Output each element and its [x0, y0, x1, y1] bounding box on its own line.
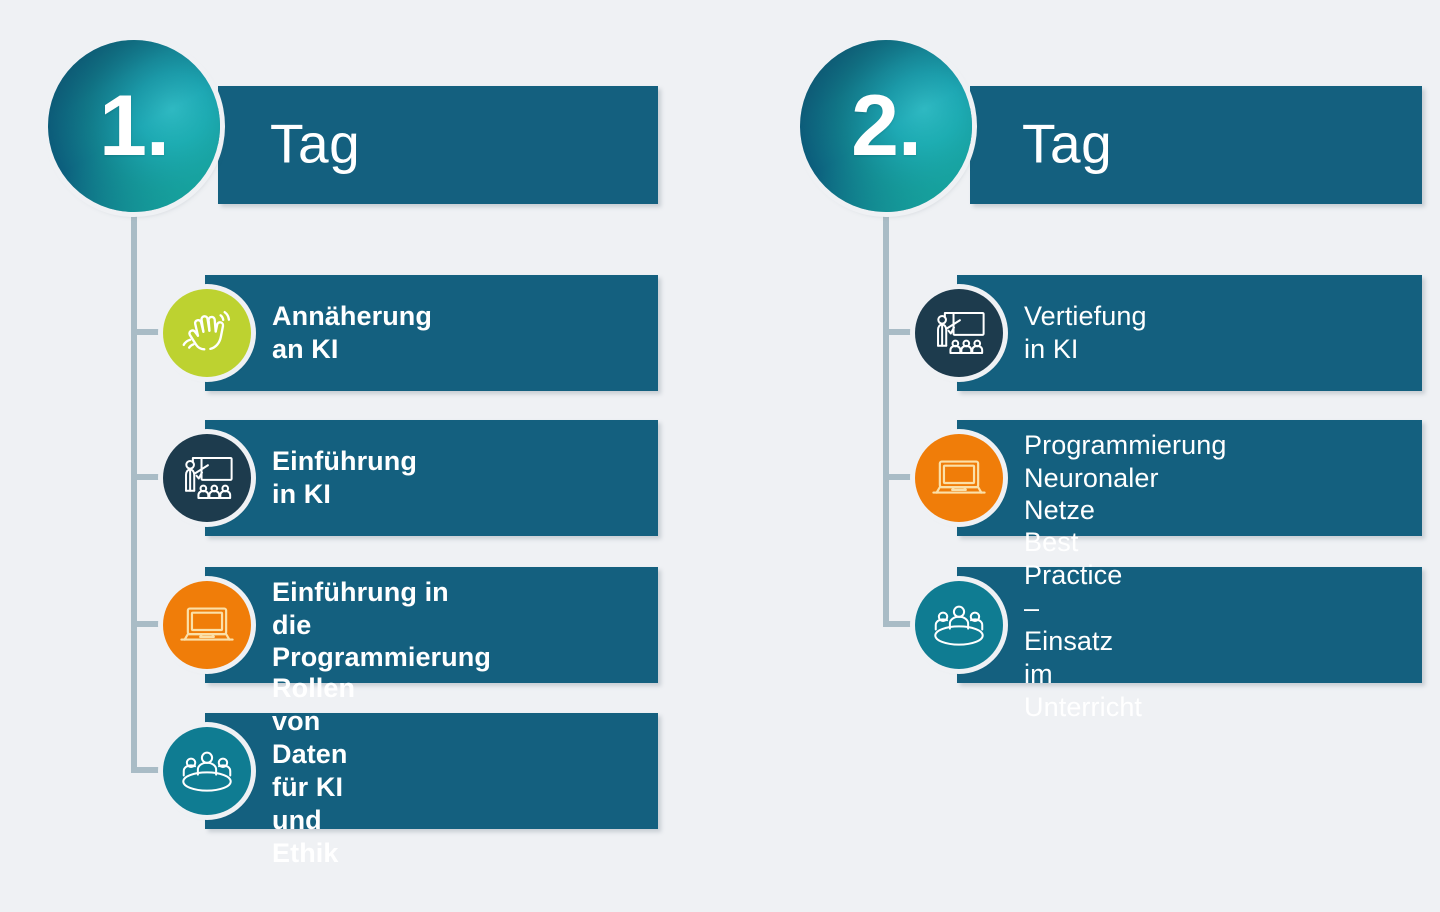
- day-1-item-4-label: Rollen von Daten für KI und Ethik: [272, 713, 355, 829]
- day-1-number-text: 1.: [99, 83, 169, 169]
- laptop-icon: [163, 581, 251, 669]
- day-2-header-bar: Tag: [970, 86, 1422, 204]
- group-table-icon: [163, 727, 251, 815]
- day-2-connector-spine: [883, 215, 889, 627]
- day-1-number-badge: 1.: [48, 40, 220, 212]
- day-2-number-text: 2.: [851, 83, 921, 169]
- day-2-number-badge: 2.: [800, 40, 972, 212]
- day-2-item-2-label: Programmierung Neuronaler Netze: [1024, 420, 1226, 536]
- day-1-item-2-label: Einführung in KI: [272, 420, 417, 536]
- day-2-header-label: Tag: [1022, 116, 1112, 171]
- day-1-header-bar: Tag: [218, 86, 658, 204]
- day-2-item-1-label: Vertiefung in KI: [1024, 275, 1147, 391]
- waving-hand-icon: [163, 289, 251, 377]
- group-table-icon: [915, 581, 1003, 669]
- day-1-connector-spine: [131, 215, 137, 773]
- day-1-item-1-label: Annäherung an KI: [272, 275, 432, 391]
- classroom-teaching-icon: [915, 289, 1003, 377]
- agenda-diagram: Tag 1.: [0, 0, 1440, 912]
- classroom-teaching-icon: [163, 434, 251, 522]
- day-1-header-label: Tag: [270, 116, 360, 171]
- day-1-item-3-label: Einführung in die Programmierung: [272, 567, 491, 683]
- laptop-icon: [915, 434, 1003, 522]
- day-2-item-3-label: Best Practice – Einsatz im Unterricht: [1024, 567, 1142, 683]
